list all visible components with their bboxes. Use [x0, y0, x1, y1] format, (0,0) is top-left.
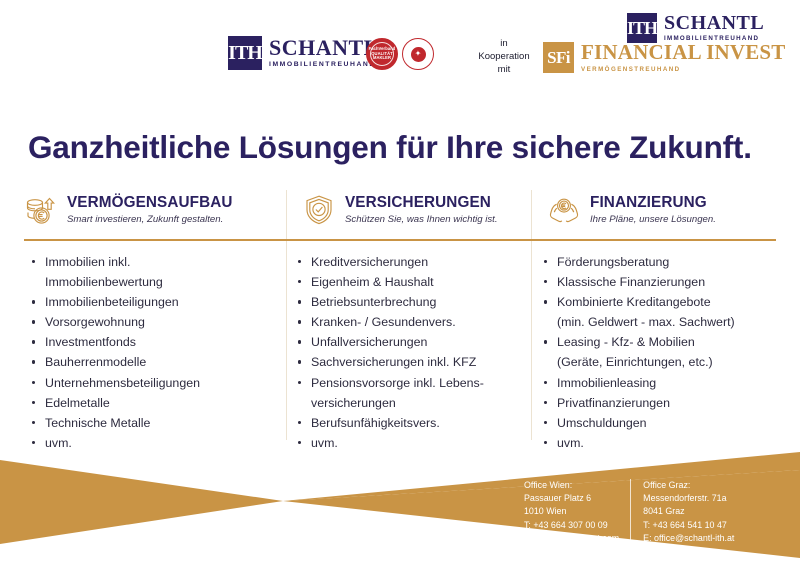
sfi-brand-subtitle: VERMÖGENSTREUHAND [581, 66, 786, 73]
crest-shape-icon: ✦ [411, 47, 426, 62]
column-tagline: Schützen Sie, was Ihnen wichtig ist. [345, 214, 498, 226]
column-vermoegensaufbau: VERMÖGENSAUFBAU Smart investieren, Zukun… [24, 188, 286, 232]
column-tagline: Smart investieren, Zukunft gestalten. [67, 214, 233, 226]
column-versicherungen: VERSICHERUNGEN Schützen Sie, was Ihnen w… [286, 188, 531, 232]
cooperation-line-3: mit [498, 64, 511, 75]
list-item: Eigenheim & Haushalt [296, 272, 534, 292]
cooperation-line-1: in [500, 38, 507, 49]
list-item: Umschuldungen [542, 413, 790, 433]
sfi-monogram-text: SFi [547, 49, 570, 66]
coins-stack-growth-euro-icon [24, 193, 58, 227]
list-item: Privatfinanzierungen [542, 393, 790, 413]
column-title: FINANZIERUNG [590, 194, 716, 212]
list-item: (min. Geldwert - max. Sachwert) [542, 312, 790, 332]
hands-holding-coin-icon [547, 193, 581, 227]
list-item: Immobilienbeteiligungen [30, 292, 278, 312]
list-item: Leasing - Kfz- & Mobilien [542, 332, 790, 352]
contact-line: 8041 Graz [643, 505, 734, 518]
cooperation-label: in Kooperation mit [472, 38, 536, 76]
seal-line-3: MAKLER [373, 56, 391, 61]
service-columns: VERMÖGENSAUFBAU Smart investieren, Zukun… [24, 188, 776, 232]
list-item: (Geräte, Einrichtungen, etc.) [542, 352, 790, 372]
ith-brand-name-corner: SCHANTL [664, 13, 764, 33]
contact-line: Office Graz: [643, 479, 734, 492]
list-vermoegensaufbau: Immobilien inkl.ImmobilienbewertungImmob… [30, 252, 278, 453]
list-item: Berufsunfähigkeitsvers. [296, 413, 534, 433]
contact-email[interactable]: E: office@schantl-ith.at [643, 532, 734, 545]
list-item: Edelmetalle [30, 393, 278, 413]
column-title: VERMÖGENSAUFBAU [67, 194, 233, 212]
list-item: Immobilienbewertung [30, 272, 278, 292]
column-title: VERSICHERUNGEN [345, 194, 498, 212]
flyer-page: ITH SCHANTL IMMOBILIENTREUHAND FachVerba… [0, 0, 800, 564]
list-item: Immobilienleasing [542, 373, 790, 393]
list-item: Technische Metalle [30, 413, 278, 433]
list-finanzierung: FörderungsberatungKlassische Finanzierun… [542, 252, 790, 453]
column-finanzierung: FINANZIERUNG Ihre Pläne, unsere Lösungen… [531, 188, 776, 232]
certification-seals: FachVerband QUALITÄT MAKLER ✦ [366, 38, 434, 70]
ith-brand-name: SCHANTL [269, 37, 379, 59]
contact-line: Office Wien: [524, 479, 619, 492]
footer-contacts: Office Wien: Passauer Platz 6 1010 Wien … [524, 479, 734, 545]
list-item: Kombinierte Kreditangebote [542, 292, 790, 312]
ith-brand-subtitle-corner: IMMOBILIENTREUHAND [664, 36, 764, 42]
list-item: Bauherrenmodelle [30, 352, 278, 372]
ith-monogram-text: ITH [228, 43, 262, 63]
list-item: Klassische Finanzierungen [542, 272, 790, 292]
contact-office-wien: Office Wien: Passauer Platz 6 1010 Wien … [524, 479, 630, 545]
ith-brand-subtitle: IMMOBILIENTREUHAND [269, 62, 379, 69]
list-item: Kreditversicherungen [296, 252, 534, 272]
list-item: Kranken- / Gesundenvers. [296, 312, 534, 332]
sfi-brand-name: FINANCIAL INVEST [581, 42, 786, 63]
section-divider [24, 239, 776, 241]
list-item: Betriebsunterbrechung [296, 292, 534, 312]
ith-schantl-logo-corner: ITH SCHANTL IMMOBILIENTREUHAND [627, 13, 764, 43]
sfi-monogram-icon: SFi [543, 42, 574, 73]
ith-monogram-text-corner: ITH [627, 19, 657, 37]
ith-schantl-logo-left: ITH SCHANTL IMMOBILIENTREUHAND [228, 36, 379, 70]
contact-office-graz: Office Graz: Messendorferstr. 71a 8041 G… [630, 479, 734, 545]
list-item: Investmentfonds [30, 332, 278, 352]
ith-monogram-icon: ITH [228, 36, 262, 70]
cooperation-line-2: Kooperation [478, 51, 529, 62]
qualitaets-makler-seal-icon: FachVerband QUALITÄT MAKLER [366, 38, 398, 70]
contact-line: 1010 Wien [524, 505, 619, 518]
list-item: Förderungsberatung [542, 252, 790, 272]
list-item: versicherungen [296, 393, 534, 413]
contact-email[interactable]: E: office@sfi-invest.com [524, 532, 619, 545]
column-tagline: Ihre Pläne, unsere Lösungen. [590, 214, 716, 226]
contact-line: Passauer Platz 6 [524, 492, 619, 505]
list-versicherungen: KreditversicherungenEigenheim & Haushalt… [296, 252, 534, 453]
logo-bar: ITH SCHANTL IMMOBILIENTREUHAND FachVerba… [0, 0, 800, 112]
contact-phone[interactable]: T: +43 664 541 10 47 [643, 519, 734, 532]
list-item: Sachversicherungen inkl. KFZ [296, 352, 534, 372]
list-item: Pensionsvorsorge inkl. Lebens- [296, 373, 534, 393]
sfi-financial-invest-logo: SFi FINANCIAL INVEST VERMÖGENSTREUHAND [543, 42, 786, 73]
list-item: Unfallversicherungen [296, 332, 534, 352]
ith-monogram-icon-corner: ITH [627, 13, 657, 43]
list-item: Unternehmensbeteiligungen [30, 373, 278, 393]
page-title: Ganzheitliche Lösungen für Ihre sichere … [28, 129, 752, 166]
list-item: Vorsorgewohnung [30, 312, 278, 332]
contact-line: Messendorferstr. 71a [643, 492, 734, 505]
contact-phone[interactable]: T: +43 664 307 00 09 [524, 519, 619, 532]
list-item: Immobilien inkl. [30, 252, 278, 272]
wko-crest-seal-icon: ✦ [402, 38, 434, 70]
shield-check-icon [302, 193, 336, 227]
